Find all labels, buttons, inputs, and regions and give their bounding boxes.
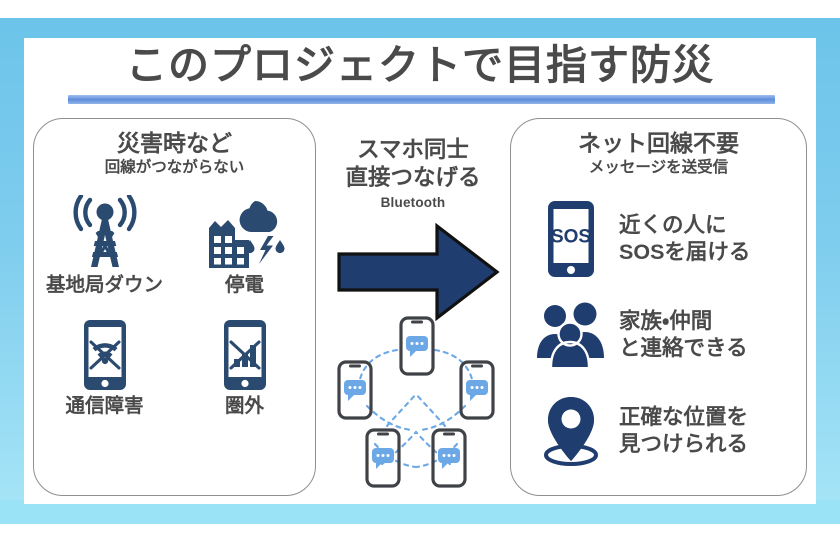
- left-panel-row-2: 通信障害: [34, 318, 315, 417]
- slide-root: このプロジェクトで目指す防災 災害時など 回線がつながらない: [0, 0, 840, 560]
- damaged-building-storm-icon: [186, 193, 304, 271]
- benefit-line-1: 正確な位置を: [619, 404, 748, 431]
- left-item-base-station: 基地局ダウン: [46, 193, 164, 296]
- left-panel-row-1: 基地局ダウン: [34, 193, 315, 296]
- right-panel-heading: ネット回線不要: [511, 129, 806, 157]
- mesh-phone-left: [339, 362, 371, 418]
- benefit-row-location: 正確な位置を 見つけられる: [511, 383, 806, 479]
- right-panel: ネット回線不要 メッセージを送受信 SOS 近くの人に: [510, 118, 807, 496]
- right-panel-subheading: メッセージを送受信: [511, 158, 806, 177]
- center-tech-label: Bluetooth: [321, 195, 505, 210]
- left-item-out-of-range: 圏外: [186, 318, 304, 417]
- mesh-phone-top: [401, 318, 433, 374]
- page-title: このプロジェクトで目指す防災: [24, 44, 816, 87]
- center-line-1: スマホ同士: [321, 136, 505, 164]
- benefit-text: 近くの人に SOSを届ける: [619, 212, 750, 266]
- benefit-row-sos: SOS 近くの人に SOSを届ける: [511, 191, 806, 287]
- right-panel-header: ネット回線不要 メッセージを送受信: [511, 129, 806, 177]
- left-panel-header: 災害時など 回線がつながらない: [34, 129, 315, 177]
- left-panel-heading: 災害時など: [34, 129, 315, 157]
- benefit-line-2: SOSを届ける: [619, 239, 750, 266]
- mesh-phone-bottom-left: [367, 430, 399, 486]
- page-title-wrapper: このプロジェクトで目指す防災: [24, 44, 816, 87]
- mesh-phone-bottom-right: [433, 430, 465, 486]
- benefit-line-2: 見つけられる: [619, 431, 748, 458]
- center-line-2: 直接つなげる: [321, 164, 505, 192]
- left-panel-icon-grid: 基地局ダウン: [34, 193, 315, 418]
- benefit-text: 正確な位置を 見つけられる: [619, 404, 748, 458]
- phone-mesh-network-icon: [327, 314, 505, 489]
- phone-no-wifi-icon: [46, 318, 164, 392]
- center-column: スマホ同士 直接つなげる Bluetooth: [321, 118, 505, 496]
- slide-canvas: このプロジェクトで目指す防災 災害時など 回線がつながらない: [24, 38, 816, 504]
- benefit-row-family: 家族・仲間 と連絡できる: [511, 287, 806, 383]
- left-item-label: 通信障害: [46, 396, 164, 417]
- title-underline-rule: [68, 95, 775, 104]
- location-pin-icon: [529, 393, 613, 469]
- svg-text:SOS: SOS: [551, 227, 591, 248]
- benefit-line-2: と連絡できる: [619, 335, 748, 362]
- left-item-label: 基地局ダウン: [46, 275, 164, 296]
- benefit-text: 家族・仲間 と連絡できる: [619, 308, 748, 362]
- cell-tower-icon: [46, 193, 164, 271]
- mesh-phone-right: [461, 362, 493, 418]
- benefit-list: SOS 近くの人に SOSを届ける: [511, 191, 806, 479]
- left-panel: 災害時など 回線がつながらない: [33, 118, 316, 496]
- left-panel-subheading: 回線がつながらない: [34, 158, 315, 177]
- sos-phone-icon: SOS: [529, 198, 613, 280]
- left-item-blackout: 停電: [186, 193, 304, 296]
- benefit-line-1: 家族・仲間: [619, 308, 748, 335]
- left-item-network-failure: 通信障害: [46, 318, 164, 417]
- phone-no-signal-icon: [186, 318, 304, 392]
- right-arrow-icon: [333, 220, 503, 324]
- left-item-label: 停電: [186, 275, 304, 296]
- people-group-icon: [529, 301, 613, 369]
- center-heading-block: スマホ同士 直接つなげる Bluetooth: [321, 118, 505, 210]
- left-item-label: 圏外: [186, 396, 304, 417]
- benefit-line-1: 近くの人に: [619, 212, 750, 239]
